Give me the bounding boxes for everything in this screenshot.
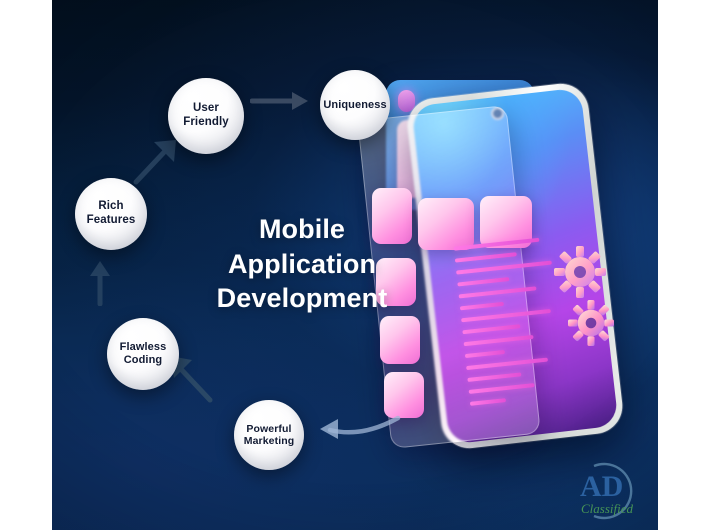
step-label-line-2: Marketing bbox=[244, 435, 295, 447]
watermark-monogram: AD bbox=[580, 470, 623, 503]
arrow-phone-to-marketing bbox=[316, 408, 402, 444]
page-title: Mobile Application Development bbox=[172, 212, 432, 316]
step-bubble-uniqueness[interactable]: Uniqueness bbox=[320, 70, 390, 140]
step-bubble-flawless-coding[interactable]: Flawless Coding bbox=[107, 318, 179, 390]
arrow-up-to-rich-features bbox=[85, 256, 115, 306]
arrow-rich-to-user-friendly bbox=[130, 134, 182, 188]
letterbox-right bbox=[658, 0, 710, 530]
watermark-logo: AD Classified bbox=[574, 458, 650, 524]
step-label-line-1: Powerful bbox=[246, 423, 291, 435]
gear-icon bbox=[568, 300, 614, 346]
gear-icon bbox=[554, 246, 606, 298]
letterbox-left bbox=[0, 0, 52, 530]
step-label-line-2: Features bbox=[87, 214, 136, 226]
watermark-caption: Classified bbox=[581, 501, 634, 516]
step-bubble-user-friendly[interactable]: User Friendly bbox=[168, 78, 244, 154]
step-label-line-2: Friendly bbox=[183, 116, 229, 128]
image-canvas: Mobile Application Development User Frie… bbox=[0, 0, 710, 530]
app-tile bbox=[380, 316, 420, 364]
mobile-app-development-infographic: Mobile Application Development User Frie… bbox=[52, 0, 658, 530]
step-label-line-1: User bbox=[193, 102, 219, 114]
page-title-line-1: Mobile bbox=[172, 212, 432, 247]
step-bubble-rich-features[interactable]: Rich Features bbox=[75, 178, 147, 250]
step-label-line-2: Coding bbox=[124, 354, 162, 366]
page-title-line-2: Application bbox=[172, 247, 432, 282]
page-title-line-3: Development bbox=[172, 281, 432, 316]
arrow-user-friendly-to-uniqueness bbox=[250, 88, 316, 114]
step-label-line-1: Rich bbox=[98, 200, 123, 212]
step-bubble-powerful-marketing[interactable]: Powerful Marketing bbox=[234, 400, 304, 470]
step-label-line-1: Flawless bbox=[120, 341, 167, 353]
step-label-line-1: Uniqueness bbox=[323, 99, 386, 111]
